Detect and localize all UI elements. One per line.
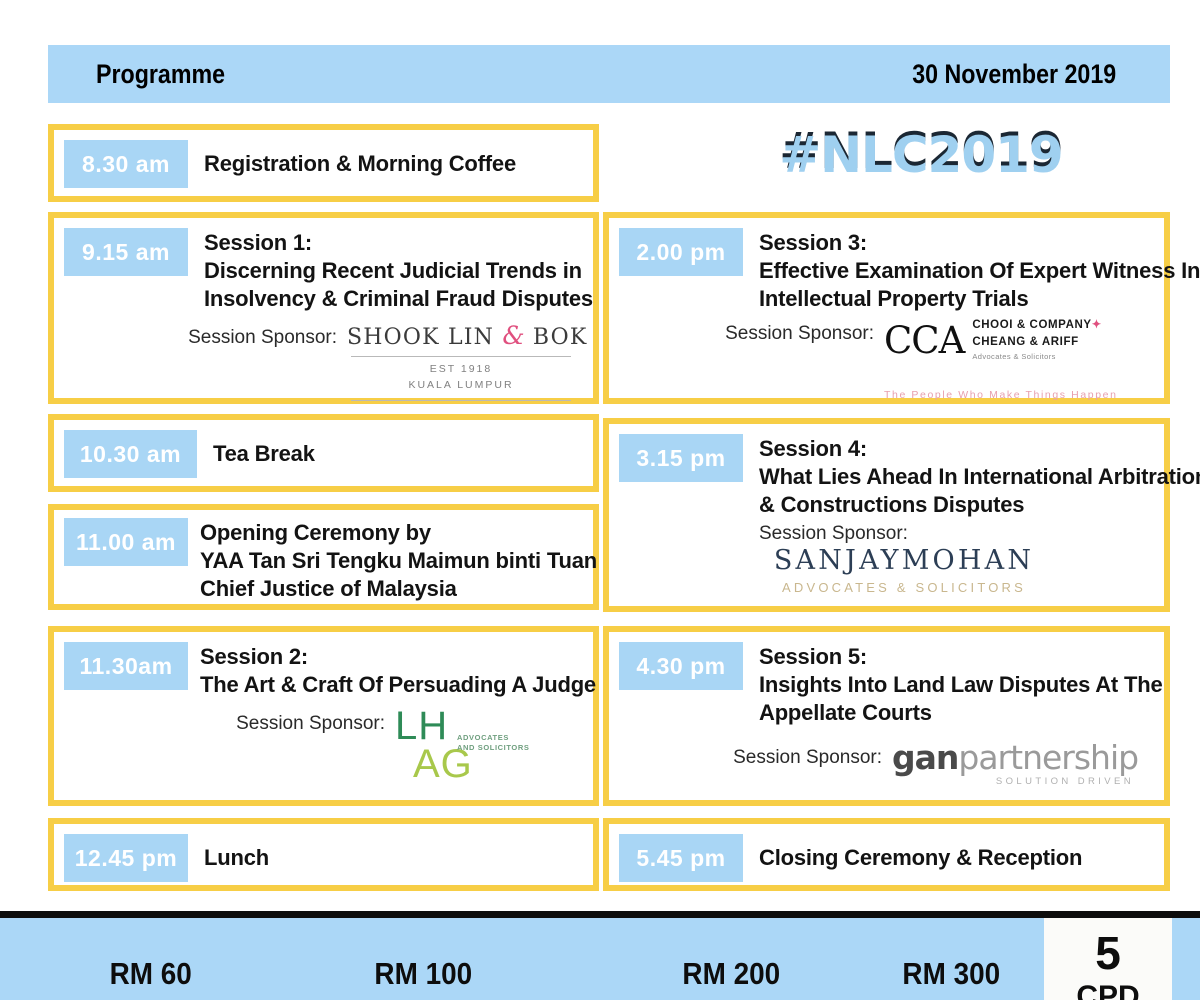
time-badge: 4.30 pm [619, 642, 743, 690]
session-title: Session 1: Discerning Recent Judicial Tr… [188, 228, 593, 313]
logo-main-layer: #NLC2019 [756, 126, 1086, 184]
time-badge: 3.15 pm [619, 434, 743, 482]
schedule-card-opening-ceremony[interactable]: 11.00 am Opening Ceremony by YAA Tan Sri… [48, 504, 599, 610]
schedule-card-lunch[interactable]: 12.45 pm Lunch [48, 818, 599, 891]
time-badge: 5.45 pm [619, 834, 743, 882]
sponsor-label: Session Sponsor: [725, 317, 884, 345]
schedule-card-tea-break[interactable]: 10.30 am Tea Break [48, 414, 599, 492]
programme-header-bar: Programme 30 November 2019 [48, 45, 1170, 103]
price-tier-1: RM 60 [110, 956, 192, 992]
time-badge: 12.45 pm [64, 834, 188, 882]
sponsor-block: Session Sponsor: ganpartnership SOLUTION… [619, 741, 1154, 787]
session-title: Session 2: The Art & Craft Of Persuading… [188, 642, 596, 699]
time-badge: 11.00 am [64, 518, 188, 566]
sanjaymohan-name: SANJAYMOHAN [759, 545, 1049, 576]
sponsor-block: Session Sponsor: LH AG ADVOCATES AND SOL… [64, 707, 583, 791]
cpd-points-label: CPD [1044, 976, 1172, 1000]
gan-tagline: SOLUTION DRIVEN [892, 776, 1140, 787]
slb-established: EST 1918 [347, 362, 575, 378]
time-badge: 2.00 pm [619, 228, 743, 276]
session-title: Registration & Morning Coffee [188, 140, 516, 178]
slb-ampersand: & [502, 321, 524, 350]
schedule-card-session-2[interactable]: 11.30am Session 2: The Art & Craft Of Pe… [48, 626, 599, 806]
schedule-card-session-3[interactable]: 2.00 pm Session 3: Effective Examination… [603, 212, 1170, 404]
slb-name: S [347, 325, 363, 350]
sponsor-block: Session Sponsor: SANJAYMOHAN ADVOCATES &… [619, 523, 1154, 595]
gan-partnership-logo: ganpartnership SOLUTION DRIVEN [892, 741, 1140, 787]
cca-firm-name-1: CHOOI & COMPANY✦ [972, 317, 1102, 334]
schedule-card-session-5[interactable]: 4.30 pm Session 5: Insights Into Land La… [603, 626, 1170, 806]
schedule-card-registration[interactable]: 8.30 am Registration & Morning Coffee [48, 124, 599, 202]
time-badge: 11.30am [64, 642, 188, 690]
cpd-points-card: 5 CPD [1044, 918, 1172, 1000]
session-title: Session 5: Insights Into Land Law Disput… [743, 642, 1162, 727]
schedule-card-closing-ceremony[interactable]: 5.45 pm Closing Ceremony & Reception [603, 818, 1170, 891]
cca-firm-descriptor: Advocates & Solicitors [972, 351, 1102, 363]
event-date: 30 November 2019 [912, 59, 1116, 90]
sponsor-label: Session Sponsor: [188, 321, 347, 349]
lhag-tagline: ADVOCATES AND SOLICITORS [457, 733, 529, 753]
session-title: Session 4: What Lies Ahead In Internatio… [743, 434, 1200, 519]
nlc2019-hashtag-logo: #NLC2019 #NLC2019 [756, 126, 1086, 192]
divider [351, 356, 571, 357]
time-badge: 8.30 am [64, 140, 188, 188]
schedule-card-session-1[interactable]: 9.15 am Session 1: Discerning Recent Jud… [48, 212, 599, 404]
cpd-points-number: 5 [1044, 918, 1172, 976]
shook-lin-bok-logo: SHOOK LIN & BOK EST 1918 KUALA LUMPUR [347, 321, 575, 406]
gan-name-light: partnership [958, 738, 1138, 777]
sanjaymohan-descriptor: ADVOCATES & SOLICITORS [759, 580, 1049, 595]
price-tier-2: RM 100 [374, 956, 472, 992]
session-title: Lunch [188, 834, 269, 872]
cca-logo: CCA CHOOI & COMPANY✦ CHEANG & ARIFF Advo… [884, 317, 1146, 400]
cca-firm-name-2: CHEANG & ARIFF [972, 334, 1102, 351]
cca-monogram: CCA [884, 322, 964, 359]
session-title: Tea Break [197, 430, 315, 468]
session-title: Session 3: Effective Examination Of Expe… [743, 228, 1200, 313]
lhag-logo: LH AG ADVOCATES AND SOLICITORS [395, 707, 535, 791]
schedule-card-session-4[interactable]: 3.15 pm Session 4: What Lies Ahead In In… [603, 418, 1170, 612]
sponsor-label: Session Sponsor: [236, 707, 395, 735]
session-title: Closing Ceremony & Reception [743, 834, 1082, 872]
sponsor-label: Session Sponsor: [759, 523, 1146, 545]
session-title: Opening Ceremony by YAA Tan Sri Tengku M… [188, 518, 646, 603]
divider [351, 400, 571, 401]
time-badge: 9.15 am [64, 228, 188, 276]
gan-name-bold: gan [892, 738, 958, 777]
sanjaymohan-logo: SANJAYMOHAN ADVOCATES & SOLICITORS [759, 545, 1049, 595]
price-tier-3: RM 200 [682, 956, 780, 992]
time-badge: 10.30 am [64, 430, 197, 478]
bottom-divider-rule [0, 911, 1200, 918]
sponsor-block: Session Sponsor: SHOOK LIN & BOK EST 191… [64, 321, 583, 406]
page-title: Programme [96, 59, 225, 90]
sponsor-label: Session Sponsor: [733, 741, 892, 769]
sponsor-block: Session Sponsor: CCA CHOOI & COMPANY✦ CH… [619, 317, 1154, 400]
price-tier-4: RM 300 [902, 956, 1000, 992]
slb-city: KUALA LUMPUR [347, 378, 575, 394]
cca-diamond-icon: ✦ [1092, 319, 1102, 331]
cca-tagline: The People Who Make Things Happen [884, 389, 1146, 401]
